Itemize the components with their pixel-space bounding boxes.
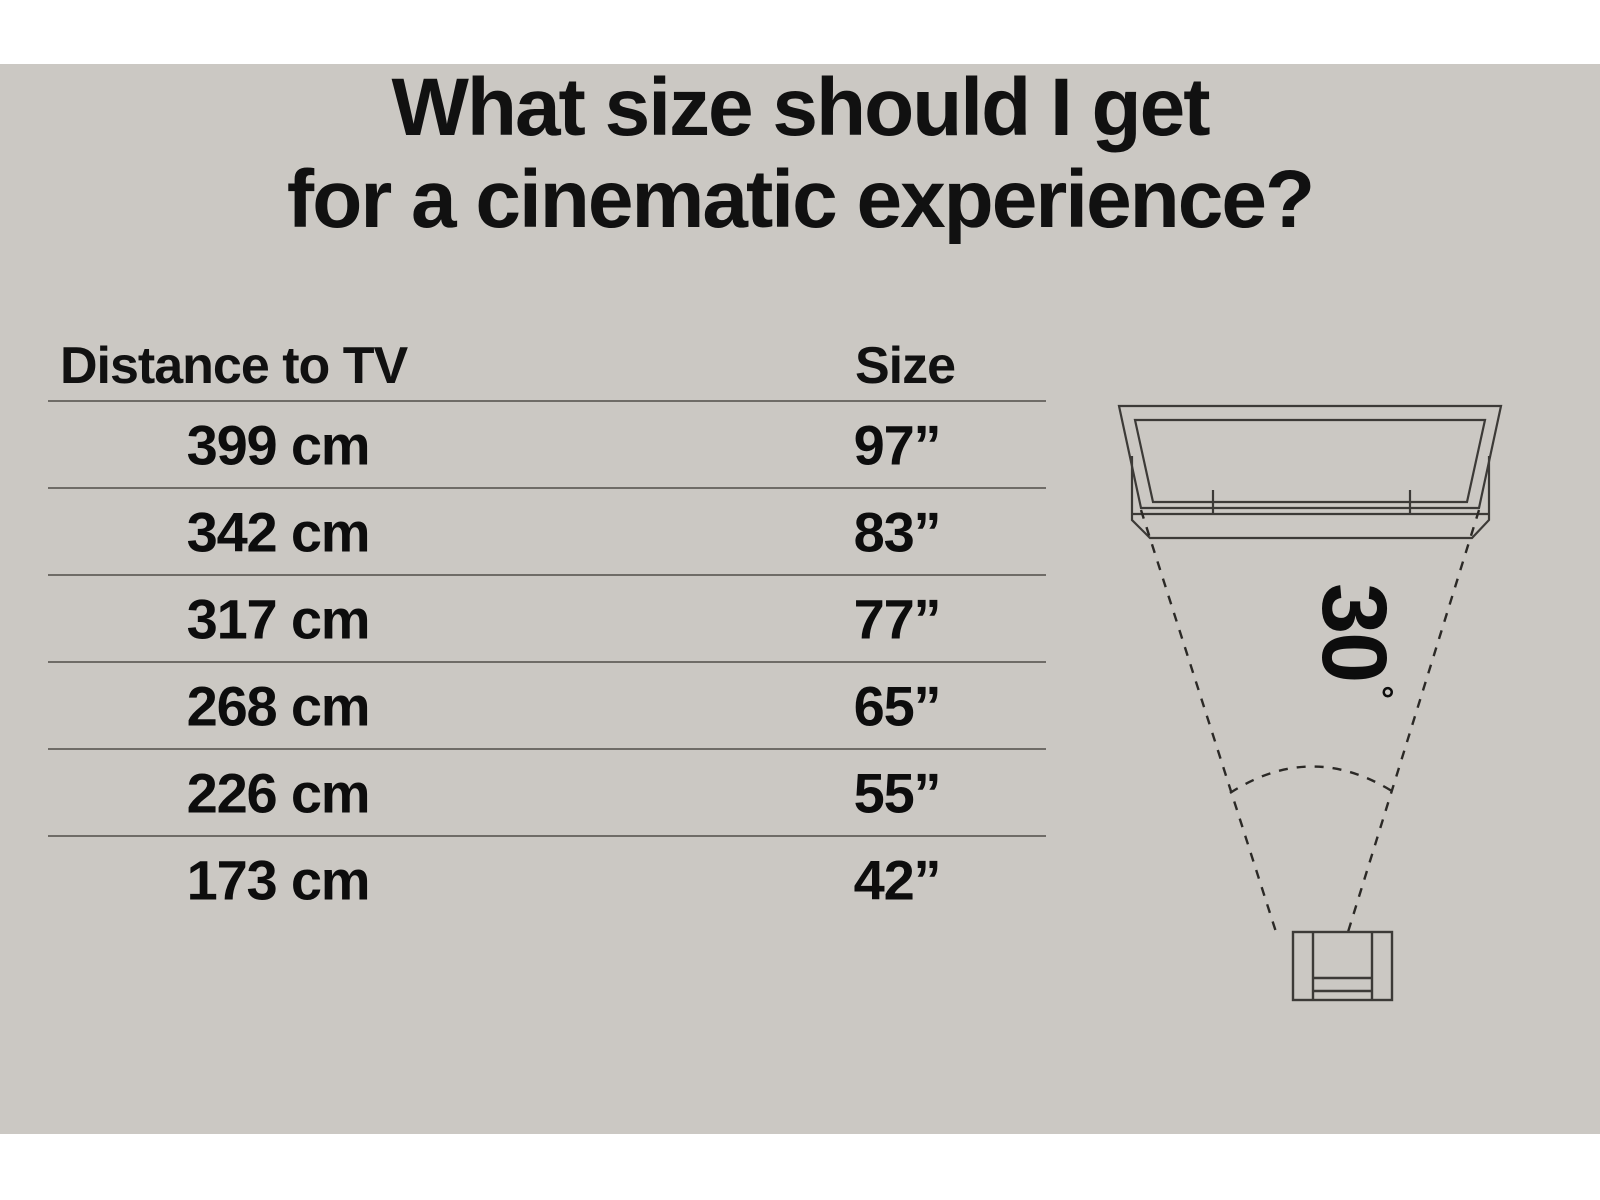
angle-arc: [1230, 767, 1395, 794]
table-row: 268 cm 65”: [48, 663, 1046, 748]
tv-base-bar: [1132, 456, 1489, 538]
column-header-size: Size: [855, 336, 955, 396]
cell-size: 97”: [748, 412, 1046, 477]
size-recommendation-table: Distance to TV Size 399 cm 97” 342 cm 83…: [48, 316, 1046, 922]
viewing-angle-diagram: [1080, 380, 1540, 1020]
cell-distance: 399 cm: [48, 412, 508, 477]
table-header-row: Distance to TV Size: [48, 316, 1046, 400]
table-row: 317 cm 77”: [48, 576, 1046, 661]
cell-distance: 226 cm: [48, 760, 508, 825]
cell-distance: 342 cm: [48, 499, 508, 564]
cell-distance: 268 cm: [48, 673, 508, 738]
cell-size: 65”: [748, 673, 1046, 738]
column-header-distance: Distance to TV: [60, 336, 407, 396]
page-title: What size should I get for a cinematic e…: [0, 62, 1600, 246]
cell-distance: 317 cm: [48, 586, 508, 651]
sightline-left: [1141, 510, 1276, 932]
table-row: 226 cm 55”: [48, 750, 1046, 835]
cell-size: 55”: [748, 760, 1046, 825]
cell-size: 77”: [748, 586, 1046, 651]
table-row: 342 cm 83”: [48, 489, 1046, 574]
sightline-right: [1348, 510, 1479, 932]
table-row: 399 cm 97”: [48, 402, 1046, 487]
cell-distance: 173 cm: [48, 847, 508, 912]
tv-outer-plate: [1119, 406, 1501, 508]
cell-size: 83”: [748, 499, 1046, 564]
table-row: 173 cm 42”: [48, 837, 1046, 922]
tv-screen-frame: [1135, 420, 1485, 502]
cell-size: 42”: [748, 847, 1046, 912]
infographic-page: What size should I get for a cinematic e…: [0, 0, 1600, 1200]
